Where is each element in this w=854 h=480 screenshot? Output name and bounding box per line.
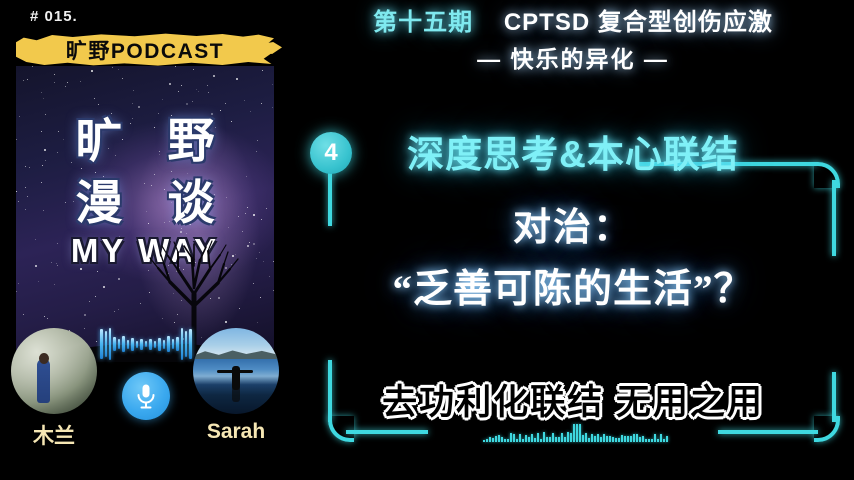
video-thumbnail-canvas: # 015. 旷野PODCAST 旷 野 漫 谈 MY WAY: [0, 0, 854, 480]
section-frame: 4 深度思考&本心联结 对治： “乏善可陈的生活”？ 去功利化联结 无用之用: [306, 146, 840, 454]
avatar-hills: [193, 349, 279, 359]
section-subtitle-line2: “乏善可陈的生活”？: [306, 258, 840, 314]
avatar-figure: [37, 359, 50, 403]
episode-topic-label: CPTSD 复合型创伤应激: [504, 9, 773, 36]
episode-subtitle-label: — 快乐的异化 —: [292, 42, 854, 76]
avatar-head: [39, 353, 49, 364]
frame-bottom-left-segment: [346, 430, 428, 434]
avatar-reflection: [232, 386, 240, 402]
host-card-2: Sarah: [190, 328, 282, 444]
avatar: [193, 328, 279, 414]
section-subtitle-line1: 对治：: [306, 196, 840, 251]
avatar: [11, 328, 97, 414]
podcast-branding-panel: # 015. 旷野PODCAST 旷 野 漫 谈 MY WAY: [0, 0, 292, 480]
host-name-label: Sarah: [190, 420, 282, 444]
audio-controls-cluster: [100, 326, 192, 420]
section-title: 深度思考&本心联结: [306, 124, 840, 178]
episode-header-line1: 第十五期 CPTSD 复合型创伤应激: [292, 6, 854, 40]
host-card-1: 木兰: [8, 328, 100, 450]
microphone-button[interactable]: [122, 372, 170, 420]
cover-title-line2: 漫 谈: [16, 164, 274, 233]
audio-waveform-bottom-icon: [446, 422, 704, 442]
section-footer-text: 去功利化联结 无用之用: [306, 374, 840, 425]
hosts-row: 木兰: [0, 318, 292, 480]
cover-title-line1: 旷 野: [16, 102, 274, 171]
frame-bottom-right-segment: [718, 430, 818, 434]
podcast-name-banner: 旷野PODCAST: [16, 30, 274, 70]
microphone-icon: [135, 383, 157, 409]
host-name-label: 木兰: [8, 420, 100, 450]
episode-index-label: 第十五期: [373, 9, 473, 36]
section-number-badge: 4: [310, 132, 352, 174]
podcast-name-label: 旷野PODCAST: [16, 30, 274, 70]
episode-content-panel: 第十五期 CPTSD 复合型创伤应激 — 快乐的异化 — 4 深度思考&本心联结…: [292, 0, 854, 480]
episode-header: 第十五期 CPTSD 复合型创伤应激 — 快乐的异化 —: [292, 6, 854, 76]
episode-number-label: # 015.: [30, 8, 78, 25]
audio-waveform-icon: [100, 326, 192, 362]
